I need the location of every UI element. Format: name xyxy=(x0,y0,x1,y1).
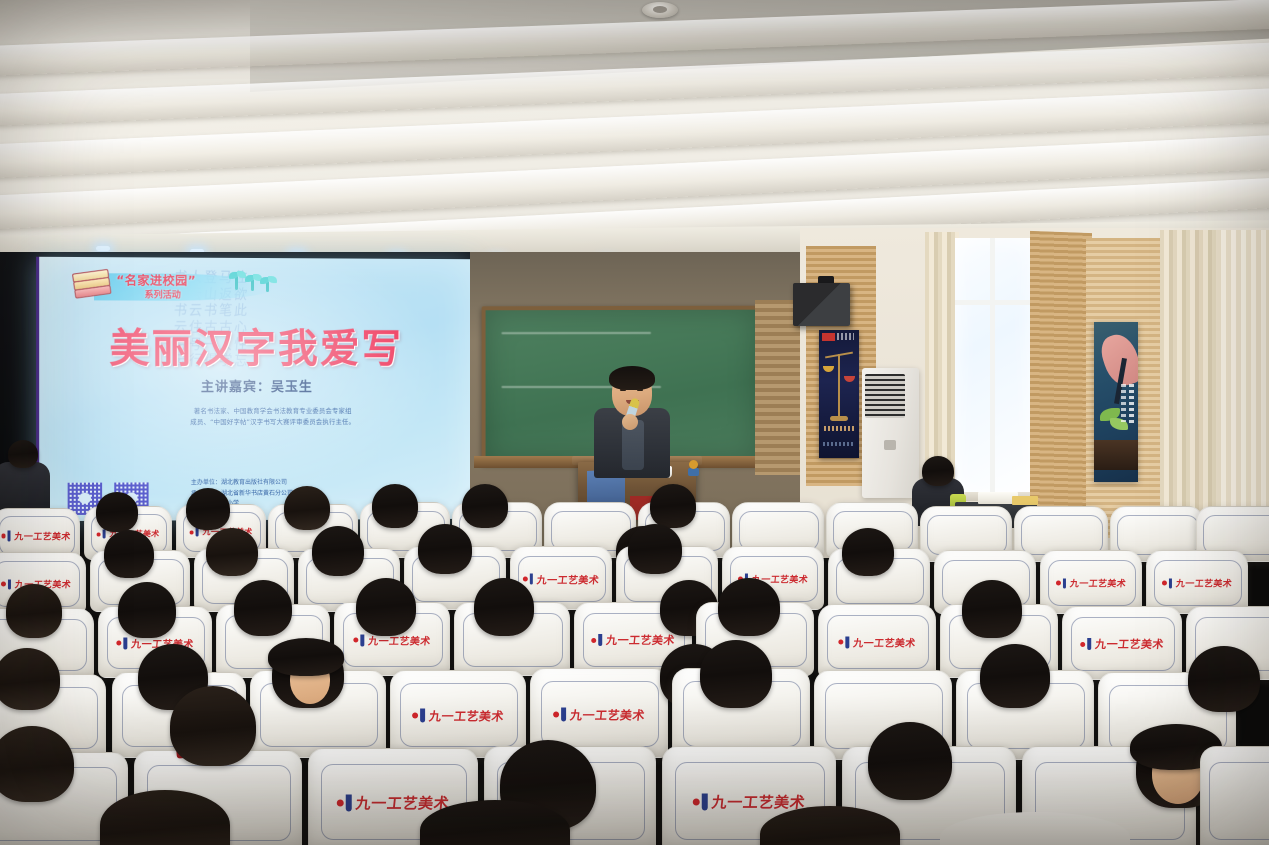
desk-folder xyxy=(1012,496,1038,505)
attendee-head xyxy=(868,722,952,800)
chair-logo: 九一工艺美术 xyxy=(412,707,504,724)
chair-logo: 九一工艺美术 xyxy=(1056,577,1126,590)
chair[interactable]: 九一工艺美术 xyxy=(1146,550,1248,614)
scale-pan-right xyxy=(844,376,855,382)
banner-logo-text xyxy=(837,333,854,340)
chair[interactable]: 九一工艺美术 xyxy=(390,670,526,758)
sprout-icon xyxy=(251,279,254,291)
attendee-head xyxy=(104,530,154,578)
scale-base xyxy=(830,416,848,421)
attendee-head xyxy=(1188,646,1260,712)
ribbon-title: “名家进校园” xyxy=(116,271,196,288)
banner-headline xyxy=(824,426,854,431)
chair[interactable] xyxy=(1200,746,1269,845)
attendee-head xyxy=(700,640,772,708)
attendee-head xyxy=(962,580,1022,638)
sprout-icon xyxy=(235,276,238,290)
chair[interactable]: 九一工艺美术 xyxy=(1040,550,1142,614)
books-icon xyxy=(72,269,112,302)
presenter-eye xyxy=(637,389,643,391)
attendee-adult xyxy=(0,462,50,514)
attendee-head xyxy=(186,488,230,530)
scale-post xyxy=(838,354,840,416)
attendee-hair xyxy=(268,638,344,676)
attendee-head xyxy=(284,486,330,530)
presenter-hair xyxy=(609,366,655,390)
attendee-head xyxy=(6,584,62,638)
chair-logo: 九一工艺美术 xyxy=(523,572,599,587)
window-transom xyxy=(955,300,1033,305)
attendee-head xyxy=(462,484,508,528)
ceiling xyxy=(0,0,1269,250)
attendee-head xyxy=(372,484,418,528)
attendee-head xyxy=(170,686,256,766)
poster-caption-1 xyxy=(1129,384,1134,426)
air-conditioner-vent xyxy=(865,374,905,418)
chair-logo: 九一工艺美术 xyxy=(693,792,806,813)
chair-logo: 九一工艺美术 xyxy=(838,635,915,650)
ribbon-subtitle: 系列活动 xyxy=(145,288,181,301)
ceiling-downlight xyxy=(96,246,110,251)
chair-logo: 九一工艺美术 xyxy=(1162,577,1232,590)
wall-loudspeaker xyxy=(793,283,850,326)
presenter-eye xyxy=(620,389,626,391)
slide-main-title: 美丽汉字我爱写 xyxy=(39,315,471,374)
attendee-head xyxy=(206,528,258,576)
attendee-head xyxy=(922,456,954,486)
slide-ribbon-banner: “名家进校园” 系列活动 xyxy=(70,265,279,306)
attendee-head xyxy=(980,644,1050,708)
chair[interactable]: 九一工艺美术 xyxy=(1062,606,1182,680)
slide-bio: 著名书法家、中国教育学会书法教育专业委员会专家组 成员、“中国好字帖”汉字书写大… xyxy=(92,406,451,428)
attendee-head xyxy=(96,492,138,532)
slide-bio-line-1: 著名书法家、中国教育学会书法教育专业委员会专家组 xyxy=(92,406,451,417)
chair-logo: 九一工艺美术 xyxy=(2,530,71,543)
scale-pan-left xyxy=(823,366,834,372)
lecture-hall-photo: 住欲 此心 性忘 马返 笔古 人学 登山 书古 一得 人云 云住 号行 书人 书 xyxy=(0,0,1269,845)
banner-logo-icon xyxy=(822,333,835,341)
attendee-head xyxy=(0,648,60,710)
chair-logo: 九一工艺美术 xyxy=(591,632,675,648)
attendee-head xyxy=(0,726,74,802)
poster-caption-2 xyxy=(1121,384,1126,422)
smoke-detector-icon xyxy=(642,2,678,18)
attendee-head xyxy=(842,528,894,576)
slide-speaker-line: 主讲嘉宾：吴玉生 xyxy=(39,376,471,395)
chair-logo: 九一工艺美术 xyxy=(553,706,645,723)
attendee-head xyxy=(418,524,472,574)
slide-bio-line-2: 成员、“中国好字帖”汉字书写大赛评审委员会执行主任。 xyxy=(92,416,451,427)
attendee-head xyxy=(118,582,176,638)
attendee-head xyxy=(234,580,292,636)
attendee-head xyxy=(628,524,682,574)
attendee-head xyxy=(718,578,780,636)
attendee-head xyxy=(312,526,364,576)
attendee-head xyxy=(650,484,696,528)
attendee-head xyxy=(8,440,38,468)
chair-logo: 九一工艺美术 xyxy=(337,793,450,814)
attendee-head xyxy=(356,578,416,636)
presenter-hand xyxy=(622,414,638,430)
chair-logo: 九一工艺美术 xyxy=(1080,636,1164,652)
banner-balance-scale xyxy=(819,330,859,458)
sprout-icon xyxy=(266,281,269,292)
audience-area: 九一工艺美术 九一工艺美术 九一工艺美术 九一工艺美术 xyxy=(0,440,1269,845)
chair[interactable]: 九一工艺美术 xyxy=(818,604,936,678)
attendee-head xyxy=(474,578,534,636)
